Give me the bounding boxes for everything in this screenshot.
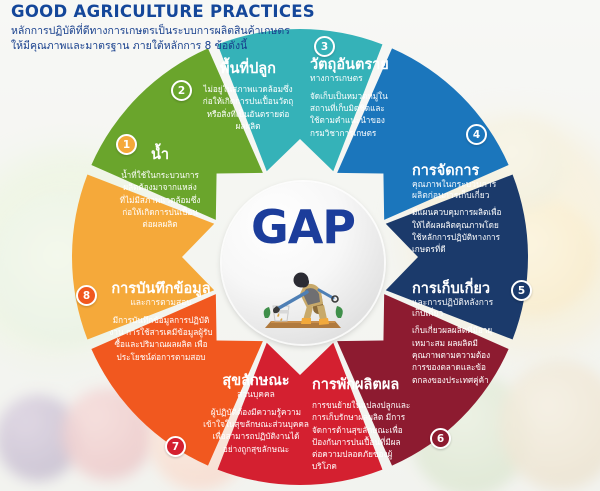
page-subtitle-line-2: ให้มีคุณภาพและมาตรฐาน ภายใต้หลักการ 8 ข้… [11,39,441,54]
segment-2-number-badge[interactable]: 2 [171,80,192,101]
segment-7-number-badge[interactable]: 7 [165,436,186,457]
segment-3-number-badge[interactable]: 3 [314,36,335,57]
segment-4-number-badge[interactable]: 4 [466,124,487,145]
page-title: GOOD AGRICULTURE PRACTICES [11,3,441,22]
gap-label: GAP [222,200,384,254]
infographic-page: GOOD AGRICULTURE PRACTICES หลักการปฏิบัต… [0,0,600,491]
farmer-watering-icon [257,268,349,334]
page-subtitle: หลักการปฏิบัติที่ดีทางการเกษตรเป็นระบบกา… [11,24,441,54]
center-hub: GAP [222,182,384,344]
page-subtitle-line-1: หลักการปฏิบัติที่ดีทางการเกษตรเป็นระบบกา… [11,24,441,39]
segment-6-number-badge[interactable]: 6 [430,428,451,449]
header: GOOD AGRICULTURE PRACTICES หลักการปฏิบัต… [11,3,441,54]
segment-8-number-badge[interactable]: 8 [76,285,97,306]
segment-5-number-badge[interactable]: 5 [511,280,532,301]
segment-1-number-badge[interactable]: 1 [116,134,137,155]
